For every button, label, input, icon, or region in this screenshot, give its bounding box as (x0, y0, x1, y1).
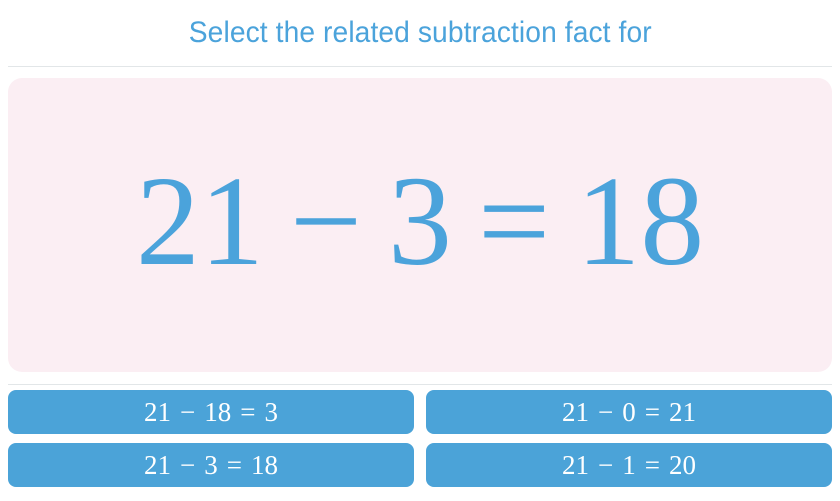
choice-4-minus-operator: − (589, 452, 622, 479)
answer-choices: 21 − 18 = 3 21 − 0 = 21 21 − 3 = 18 21 −… (8, 390, 832, 487)
choices-divider (8, 384, 832, 385)
equation-minus-operator: − (264, 157, 388, 285)
choice-3-minus-operator: − (171, 452, 204, 479)
answer-choice-3[interactable]: 21 − 3 = 18 (8, 443, 414, 487)
equation-subtrahend: 3 (388, 157, 452, 285)
header-divider (8, 66, 832, 67)
choice-2-difference: 21 (669, 399, 696, 426)
choice-1-minuend: 21 (144, 399, 171, 426)
choice-3-minuend: 21 (144, 452, 171, 479)
question-header: Select the related subtraction fact for (0, 0, 840, 66)
equation-equals-operator: = (452, 157, 576, 285)
choice-4-equals-operator: = (636, 452, 669, 479)
choice-2-minus-operator: − (589, 399, 622, 426)
choice-3-difference: 18 (251, 452, 278, 479)
choice-3-subtrahend: 3 (204, 452, 218, 479)
equation-display: 21 − 3 = 18 (136, 157, 704, 293)
answer-choice-4[interactable]: 21 − 1 = 20 (426, 443, 832, 487)
answer-choice-2[interactable]: 21 − 0 = 21 (426, 390, 832, 434)
answer-choice-1[interactable]: 21 − 18 = 3 (8, 390, 414, 434)
choice-1-subtrahend: 18 (204, 399, 231, 426)
choice-2-minuend: 21 (562, 399, 589, 426)
choice-2-equals-operator: = (636, 399, 669, 426)
page-title: Select the related subtraction fact for (189, 16, 652, 50)
choice-2-subtrahend: 0 (622, 399, 636, 426)
choice-1-difference: 3 (264, 399, 278, 426)
choice-3-equals-operator: = (218, 452, 251, 479)
choice-4-subtrahend: 1 (622, 452, 636, 479)
quiz-screen: Select the related subtraction fact for … (0, 0, 840, 501)
equation-difference: 18 (576, 157, 704, 285)
choice-1-equals-operator: = (231, 399, 264, 426)
equation-minuend: 21 (136, 157, 264, 285)
choice-1-minus-operator: − (171, 399, 204, 426)
choice-4-minuend: 21 (562, 452, 589, 479)
equation-panel: 21 − 3 = 18 (8, 78, 832, 372)
choice-4-difference: 20 (669, 452, 696, 479)
